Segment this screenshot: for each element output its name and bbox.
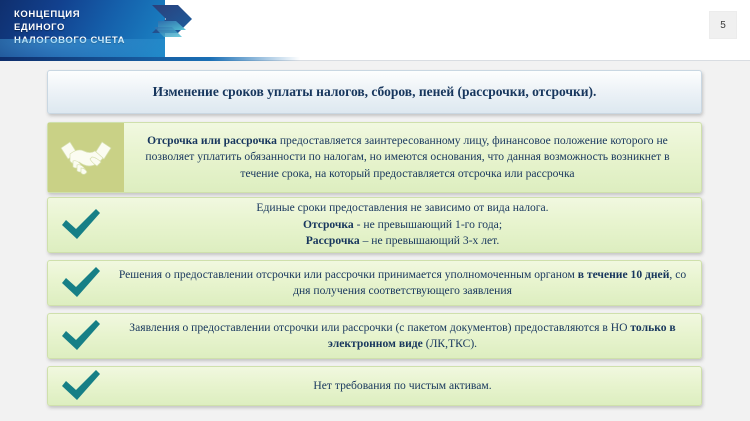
block-decision-part-b: в течение 10 дней	[578, 268, 670, 281]
block-application-part-a: Заявления о предоставлении отсрочки или …	[129, 321, 630, 334]
check-icon	[48, 368, 114, 404]
block-decision: Решения о предоставлении отсрочки или ра…	[47, 260, 702, 306]
handshake-icon	[48, 123, 124, 192]
block-intro: Отсрочка или рассрочка предоставляется з…	[47, 122, 702, 193]
page-number-badge: 5	[709, 11, 737, 39]
block-terms: Единые сроки предоставления не зависимо …	[47, 197, 702, 253]
block-assets-text: Нет требования по чистым активам.	[114, 374, 701, 398]
check-icon	[48, 318, 114, 354]
block-terms-line3-rest: – не превышающий 3-х лет.	[360, 234, 500, 247]
block-intro-text: Отсрочка или рассрочка предоставляется з…	[124, 129, 701, 186]
block-decision-part-a: Решения о предоставлении отсрочки или ра…	[119, 268, 578, 281]
block-application-text: Заявления о предоставлении отсрочки или …	[114, 316, 701, 357]
block-terms-line3: Рассрочка – не превышающий 3-х лет.	[118, 233, 687, 249]
page-title: Изменение сроков уплаты налогов, сборов,…	[141, 84, 609, 101]
block-intro-lead: Отсрочка или рассрочка	[147, 134, 277, 147]
block-terms-line3-bold: Рассрочка	[306, 234, 360, 247]
block-terms-line2-rest: - не превышающий 1-го года;	[354, 218, 502, 231]
check-icon	[48, 265, 114, 301]
slide-title-panel: Изменение сроков уплаты налогов, сборов,…	[47, 70, 702, 114]
block-terms-line1: Единые сроки предоставления не зависимо …	[118, 200, 687, 216]
brand-underline	[0, 57, 300, 61]
block-assets: Нет требования по чистым активам.	[47, 366, 702, 406]
brand-title: КОНЦЕПЦИЯ ЕДИНОГО НАЛОГОВОГО СЧЕТА	[14, 8, 125, 47]
chevron-arrow-logo-icon	[150, 3, 194, 49]
check-icon	[48, 207, 114, 243]
block-application: Заявления о предоставлении отсрочки или …	[47, 313, 702, 359]
block-terms-line2: Отсрочка - не превышающий 1-го года;	[118, 217, 687, 233]
block-application-part-c: (ЛК,ТКС).	[423, 337, 477, 350]
brand-banner: КОНЦЕПЦИЯ ЕДИНОГО НАЛОГОВОГО СЧЕТА	[0, 0, 165, 57]
block-decision-text: Решения о предоставлении отсрочки или ра…	[114, 263, 701, 304]
block-terms-line2-bold: Отсрочка	[303, 218, 354, 231]
slide-canvas: КОНЦЕПЦИЯ ЕДИНОГО НАЛОГОВОГО СЧЕТА 5 Изм…	[0, 0, 750, 421]
block-terms-text: Единые сроки предоставления не зависимо …	[114, 196, 701, 253]
